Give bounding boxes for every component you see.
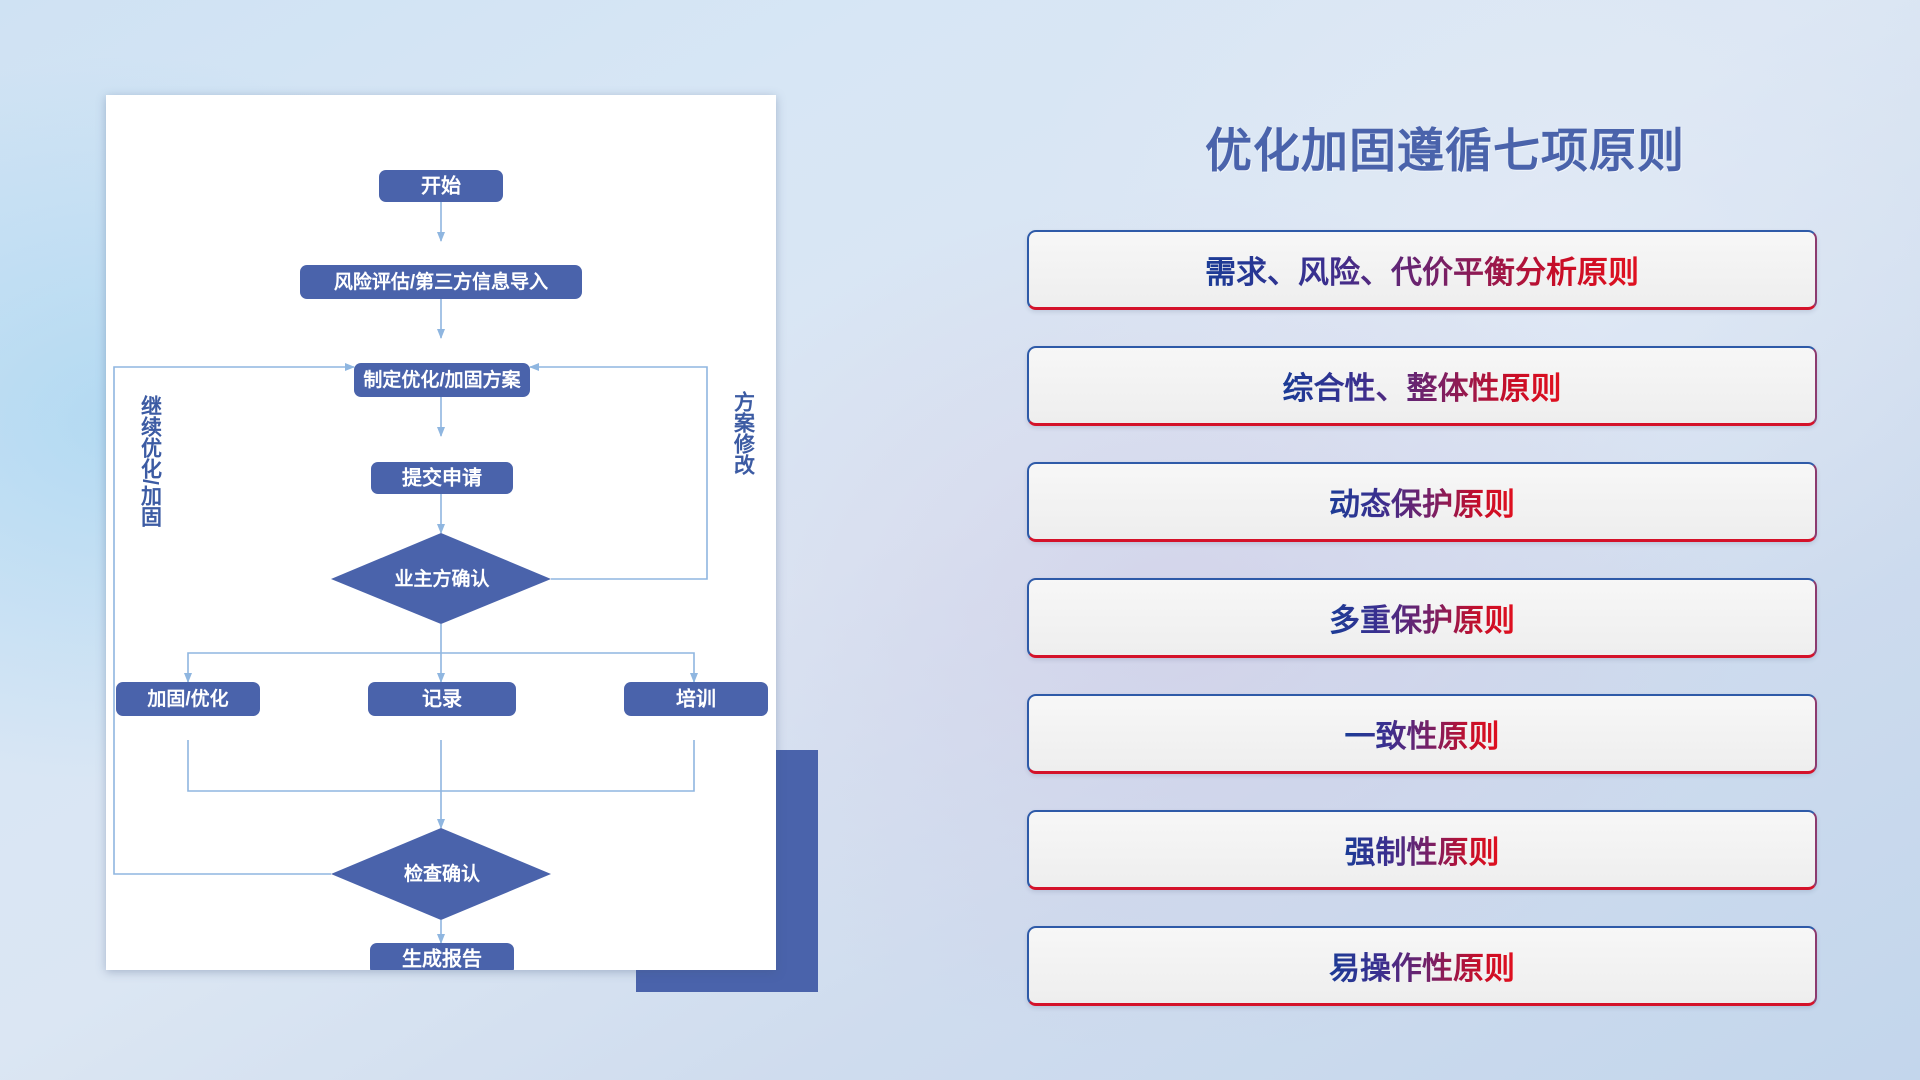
flow-edge-label-left-loop: 继续优化/加固 (139, 394, 164, 527)
flow-node-reinforce-label: 加固/优化 (146, 687, 228, 710)
principle-card-1-label: 需求、风险、代价平衡分析原则 (1205, 247, 1639, 292)
principle-card-5[interactable]: 一致性原则 (1027, 694, 1817, 774)
principle-card-7[interactable]: 易操作性原则 (1027, 926, 1817, 1006)
principles-panel: 优化加固遵循七项原则 需求、风险、代价平衡分析原则 综合性、整体性原则 动态保护… (1010, 0, 1880, 1080)
flow-edge-label-right-loop: 方案修改 (732, 390, 757, 476)
flow-node-record: 记录 (368, 682, 516, 716)
principle-card-2[interactable]: 综合性、整体性原则 (1027, 346, 1817, 426)
principle-card-2-label: 综合性、整体性原则 (1283, 363, 1562, 408)
flow-node-plan-label: 制定优化/加固方案 (363, 368, 521, 391)
flowchart-diagram: 开始 风险评估/第三方信息导入 制定优化/加固方案 提交申请 业主方确认 (106, 95, 776, 970)
principles-list: 需求、风险、代价平衡分析原则 综合性、整体性原则 动态保护原则 多重保护原则 一… (1027, 230, 1817, 1042)
flow-node-owner-confirm-label: 业主方确认 (394, 567, 489, 590)
flow-node-report-label: 生成报告 (402, 946, 482, 970)
flowchart-card: 开始 风险评估/第三方信息导入 制定优化/加固方案 提交申请 业主方确认 (106, 95, 776, 970)
flow-node-start: 开始 (379, 170, 503, 202)
panel-title: 优化加固遵循七项原则 (1010, 112, 1880, 181)
flow-node-start-label: 开始 (421, 173, 461, 197)
flow-node-risk-assessment: 风险评估/第三方信息导入 (300, 265, 582, 299)
flow-node-owner-confirm: 业主方确认 (331, 533, 551, 624)
principle-card-3-label: 动态保护原则 (1329, 479, 1515, 524)
principle-card-4-label: 多重保护原则 (1329, 595, 1515, 640)
slide-canvas: 开始 风险评估/第三方信息导入 制定优化/加固方案 提交申请 业主方确认 (0, 0, 1920, 1080)
flow-node-check-confirm: 检查确认 (331, 828, 551, 920)
flow-node-reinforce: 加固/优化 (116, 682, 260, 716)
principle-card-7-label: 易操作性原则 (1329, 943, 1515, 988)
principle-card-6[interactable]: 强制性原则 (1027, 810, 1817, 890)
flow-node-plan: 制定优化/加固方案 (354, 363, 530, 397)
principle-card-1[interactable]: 需求、风险、代价平衡分析原则 (1027, 230, 1817, 310)
principle-card-3[interactable]: 动态保护原则 (1027, 462, 1817, 542)
flow-node-submit-label: 提交申请 (402, 465, 482, 489)
flow-node-record-label: 记录 (422, 687, 462, 710)
flow-node-check-confirm-label: 检查确认 (404, 862, 480, 885)
flow-node-report: 生成报告 (370, 943, 514, 970)
flow-node-training: 培训 (624, 682, 768, 716)
flow-node-submit: 提交申请 (371, 462, 513, 494)
principle-card-5-label: 一致性原则 (1345, 711, 1500, 756)
principle-card-4[interactable]: 多重保护原则 (1027, 578, 1817, 658)
principle-card-6-label: 强制性原则 (1345, 827, 1500, 872)
flow-node-risk-assessment-label: 风险评估/第三方信息导入 (334, 270, 548, 293)
flow-node-training-label: 培训 (676, 686, 716, 710)
